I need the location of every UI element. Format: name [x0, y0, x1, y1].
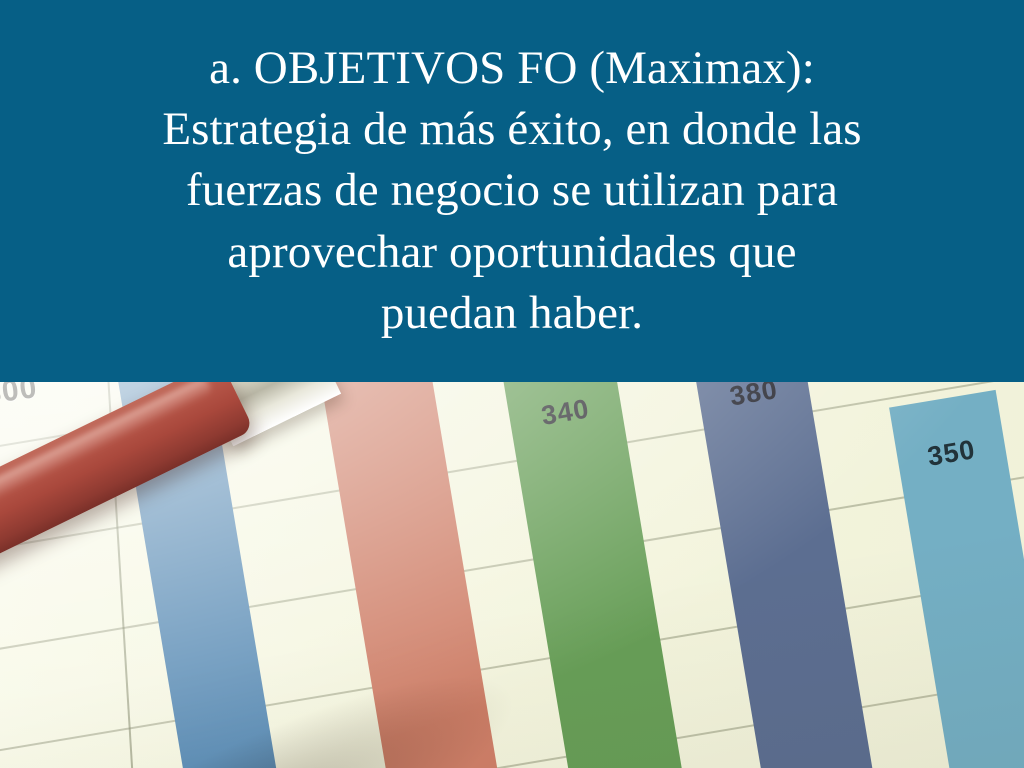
background-photo: 300 250 340 380 350 [0, 382, 1024, 768]
slide-title: a. OBJETIVOS FO (Maximax): Estrategia de… [32, 38, 992, 343]
bar-light-blue-label: 350 [896, 429, 1008, 477]
bar-slate-blue-label: 380 [697, 382, 811, 418]
title-band: a. OBJETIVOS FO (Maximax): Estrategia de… [0, 0, 1024, 382]
bar-green-label: 340 [508, 388, 624, 437]
slide-root: 300 250 340 380 350 [0, 0, 1024, 768]
